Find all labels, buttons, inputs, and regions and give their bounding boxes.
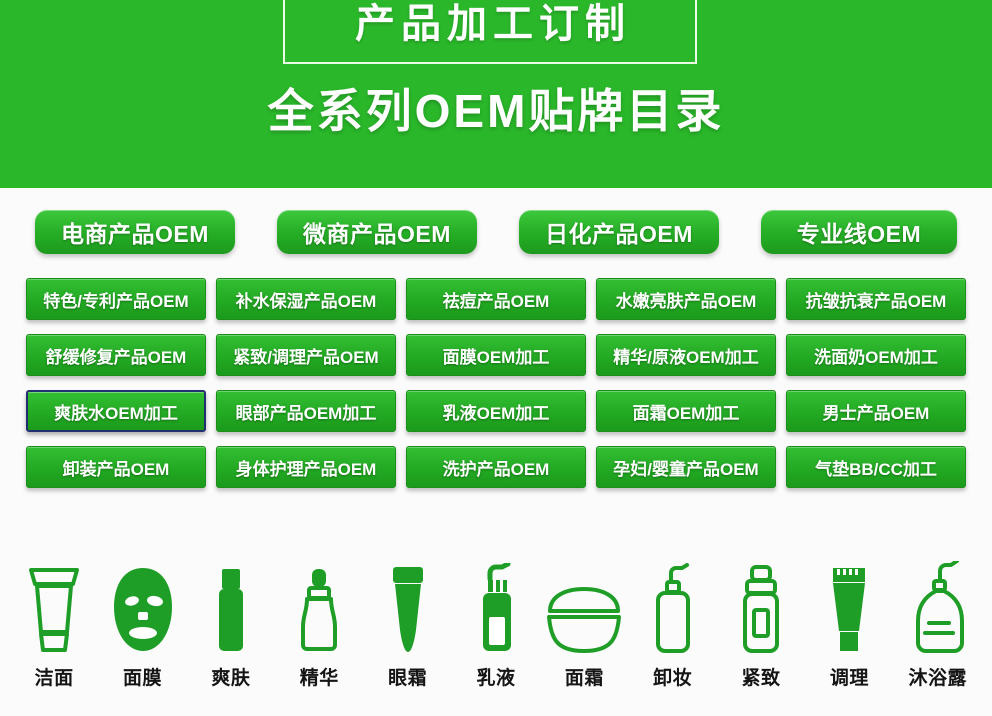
banner-wave-edge [0,152,992,188]
banner-subtitle: 全系列OEM贴牌目录 [0,88,992,134]
grid-cell[interactable]: 洗护产品OEM [406,446,586,488]
icon-item-body-wash[interactable]: 沐浴露 [897,555,979,690]
icon-label: 卸妆 [653,663,692,690]
pill-ecommerce[interactable]: 电商产品OEM [35,210,235,254]
page-root: 产品加工订制 全系列OEM贴牌目录 电商产品OEM 微商产品OEM 日化产品OE… [0,0,992,716]
grid-cell[interactable]: 祛痘产品OEM [406,278,586,320]
makeup-remover-pump-icon [650,555,696,655]
icon-label: 面霜 [565,663,604,690]
sheet-mask-icon [110,555,176,655]
icon-label: 洁面 [35,663,74,690]
eye-cream-tube-icon [388,555,428,655]
icon-item-lotion[interactable]: 乳液 [455,555,537,690]
cleanser-tube-icon [25,555,83,655]
toner-bottle-icon [214,555,248,655]
icon-item-toner[interactable]: 爽肤 [190,555,272,690]
icon-label: 紧致 [742,663,781,690]
icon-item-makeup-remover[interactable]: 卸妆 [632,555,714,690]
grid-cell[interactable]: 精华/原液OEM加工 [596,334,776,376]
grid-cell[interactable]: 舒缓修复产品OEM [26,334,206,376]
face-cream-jar-icon [544,555,624,655]
icon-label: 眼霜 [388,663,427,690]
icon-label: 爽肤 [211,663,250,690]
pill-wechat-business[interactable]: 微商产品OEM [277,210,477,254]
grid-cell[interactable]: 眼部产品OEM加工 [216,390,396,432]
grid-cell[interactable]: 补水保湿产品OEM [216,278,396,320]
icon-item-cleanser[interactable]: 洁面 [13,555,95,690]
lotion-pump-icon [472,555,520,655]
serum-dropper-icon [298,555,340,655]
grid-cell[interactable]: 气垫BB/CC加工 [786,446,966,488]
icon-item-eye-cream[interactable]: 眼霜 [367,555,449,690]
icon-label: 沐浴露 [909,663,968,690]
grid-cell-selected[interactable]: 爽肤水OEM加工 [26,390,206,432]
banner-title: 产品加工订制 [349,4,631,44]
grid-cell[interactable]: 抗皱抗衰产品OEM [786,278,966,320]
header-banner: 产品加工订制 全系列OEM贴牌目录 [0,0,992,188]
icon-item-face-cream[interactable]: 面霜 [543,555,625,690]
grid-cell[interactable]: 乳液OEM加工 [406,390,586,432]
grid-cell[interactable]: 特色/专利产品OEM [26,278,206,320]
top-category-row: 电商产品OEM 微商产品OEM 日化产品OEM 专业线OEM [0,208,992,256]
firming-bottle-icon [739,555,783,655]
grid-cell[interactable]: 紧致/调理产品OEM [216,334,396,376]
grid-cell[interactable]: 孕妇/婴童产品OEM [596,446,776,488]
product-icon-strip: 洁面 面膜 爽肤 [0,540,992,690]
banner-content: 产品加工订制 全系列OEM贴牌目录 [0,0,992,160]
icon-item-firming[interactable]: 紧致 [720,555,802,690]
icon-item-conditioning[interactable]: 调理 [808,555,890,690]
icon-label: 精华 [300,663,339,690]
grid-cell[interactable]: 水嫩亮肤产品OEM [596,278,776,320]
grid-cell[interactable]: 卸装产品OEM [26,446,206,488]
icon-label: 调理 [830,663,869,690]
grid-cell[interactable]: 面膜OEM加工 [406,334,586,376]
product-category-grid: 特色/专利产品OEM 补水保湿产品OEM 祛痘产品OEM 水嫩亮肤产品OEM 抗… [26,278,966,488]
pill-professional-line[interactable]: 专业线OEM [761,210,957,254]
pill-daily-chemical[interactable]: 日化产品OEM [519,210,719,254]
icon-label: 面膜 [123,663,162,690]
icon-label: 乳液 [476,663,515,690]
conditioning-tube-icon [827,555,871,655]
body-wash-pump-icon [910,555,966,655]
icon-item-sheet-mask[interactable]: 面膜 [102,555,184,690]
grid-cell[interactable]: 身体护理产品OEM [216,446,396,488]
grid-cell[interactable]: 洗面奶OEM加工 [786,334,966,376]
grid-cell[interactable]: 面霜OEM加工 [596,390,776,432]
icon-item-serum[interactable]: 精华 [278,555,360,690]
banner-title-box: 产品加工订制 [283,0,697,64]
grid-cell[interactable]: 男士产品OEM [786,390,966,432]
